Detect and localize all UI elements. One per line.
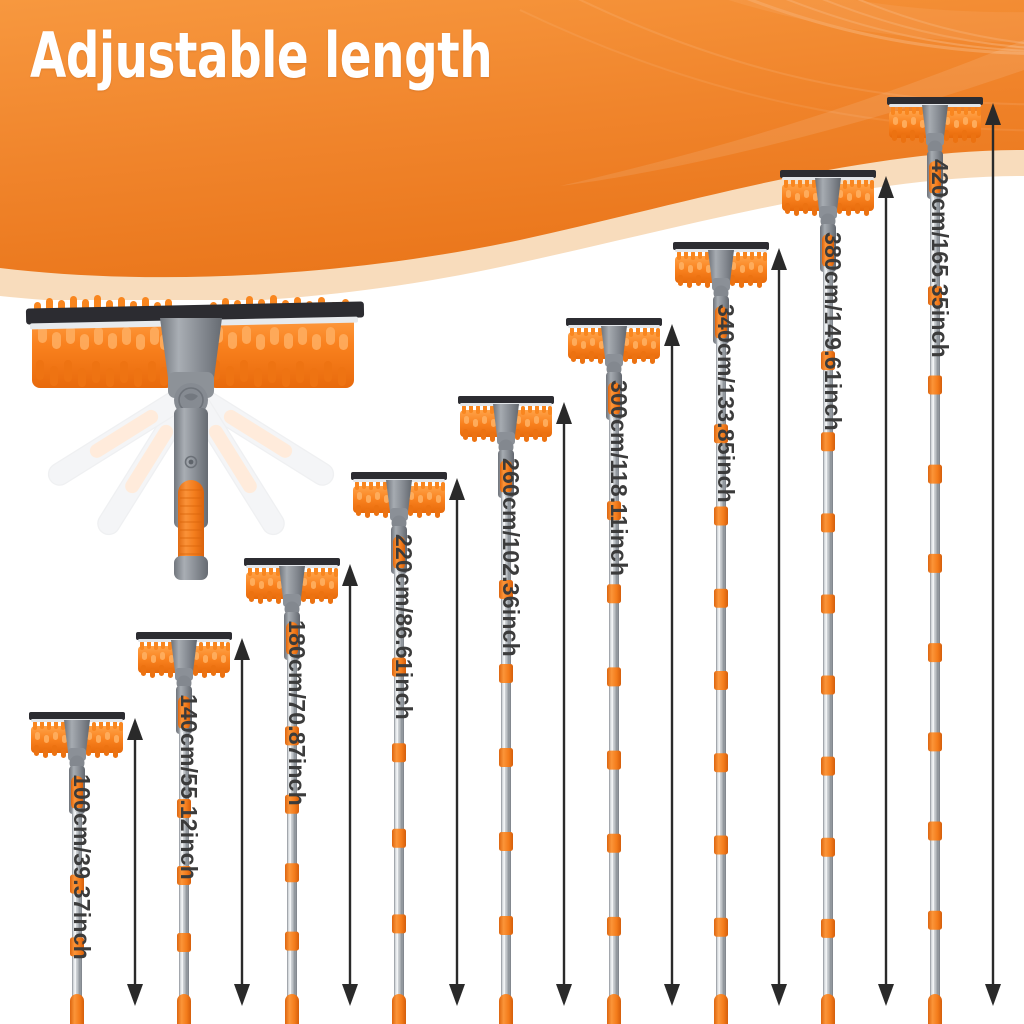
squeegee-blade (244, 558, 340, 566)
dimension-label-size-260: 260cm/102.36inch (497, 458, 524, 657)
pole-end-cap (607, 994, 621, 1024)
dimension-arrow (985, 103, 1001, 1006)
squeegee-blade (458, 396, 554, 404)
pole-end-cap (928, 994, 942, 1024)
squeegee-head (780, 170, 876, 229)
squeegee-blade (136, 632, 232, 640)
squeegee-blade (351, 472, 447, 480)
pole-end-cap (285, 994, 299, 1024)
product-infographic: Adjustable length (0, 0, 1024, 1024)
dimension-label-size-300: 300cm/118.11inch (605, 380, 632, 576)
squeegee-blade (780, 170, 876, 178)
pole-end-cap (177, 994, 191, 1024)
squeegee-head (673, 242, 769, 301)
dimension-label-size-220: 220cm/86.61inch (390, 534, 417, 720)
squeegee-head (244, 558, 340, 617)
squeegee-head (29, 712, 125, 771)
pole-end-cap (392, 994, 406, 1024)
dimension-label-size-340: 340cm/133.85inch (712, 304, 739, 503)
dimension-label-size-180: 180cm/70.87inch (283, 620, 310, 806)
squeegee-head (136, 632, 232, 691)
squeegee-blade (673, 242, 769, 250)
squeegee-head (566, 318, 662, 377)
hero-handle (174, 408, 208, 580)
squeegee-blade (566, 318, 662, 326)
dimension-label-size-100: 100cm/39.37inch (68, 774, 95, 960)
squeegee-blade (29, 712, 125, 720)
pole-end-cap (714, 994, 728, 1024)
hero-product-image (8, 282, 380, 582)
squeegee-head (887, 97, 983, 156)
pole-size-420[interactable] (889, 85, 1024, 1018)
squeegee-head (351, 472, 447, 531)
dimension-label-size-380: 380cm/149.61inch (819, 232, 846, 431)
page-title: Adjustable length (30, 24, 492, 88)
pole-end-cap (821, 994, 835, 1024)
pole-graphic (889, 85, 1024, 1018)
squeegee-blade (887, 97, 983, 105)
squeegee-head (458, 396, 554, 455)
pole-end-cap (70, 994, 84, 1024)
dimension-label-size-140: 140cm/55.12inch (175, 694, 202, 880)
dimension-label-size-420: 420cm/165.35inch (926, 159, 953, 358)
pole-end-cap (499, 994, 513, 1024)
